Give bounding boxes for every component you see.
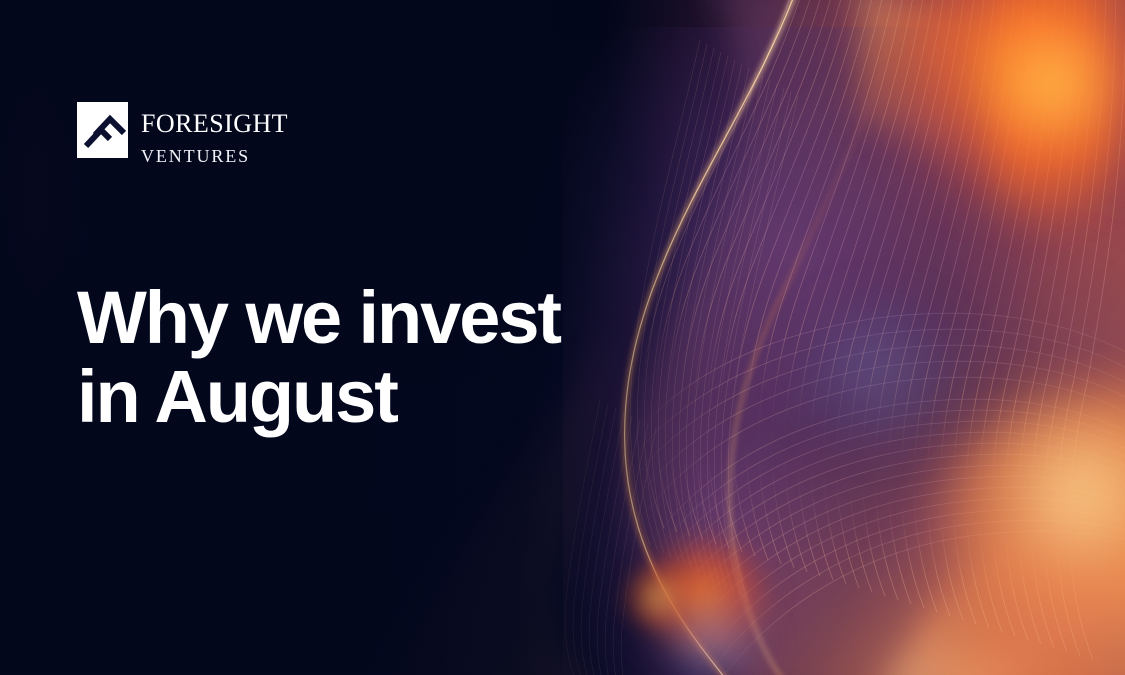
headline-line-2: in August <box>77 358 560 436</box>
page-title: Why we invest in August <box>77 279 560 436</box>
hero-banner: Foresight Ventures Why we invest in Augu… <box>0 0 1125 675</box>
brand-name-secondary: Ventures <box>141 141 288 168</box>
headline-line-1: Why we invest <box>77 279 560 357</box>
foresight-mountain-mark-icon <box>77 102 128 158</box>
brand-wordmark: Foresight Ventures <box>141 102 288 168</box>
brand-logo-lockup[interactable]: Foresight Ventures <box>77 102 288 168</box>
brand-name-primary: Foresight <box>141 103 288 139</box>
banner-content: Foresight Ventures Why we invest in Augu… <box>0 0 1125 675</box>
